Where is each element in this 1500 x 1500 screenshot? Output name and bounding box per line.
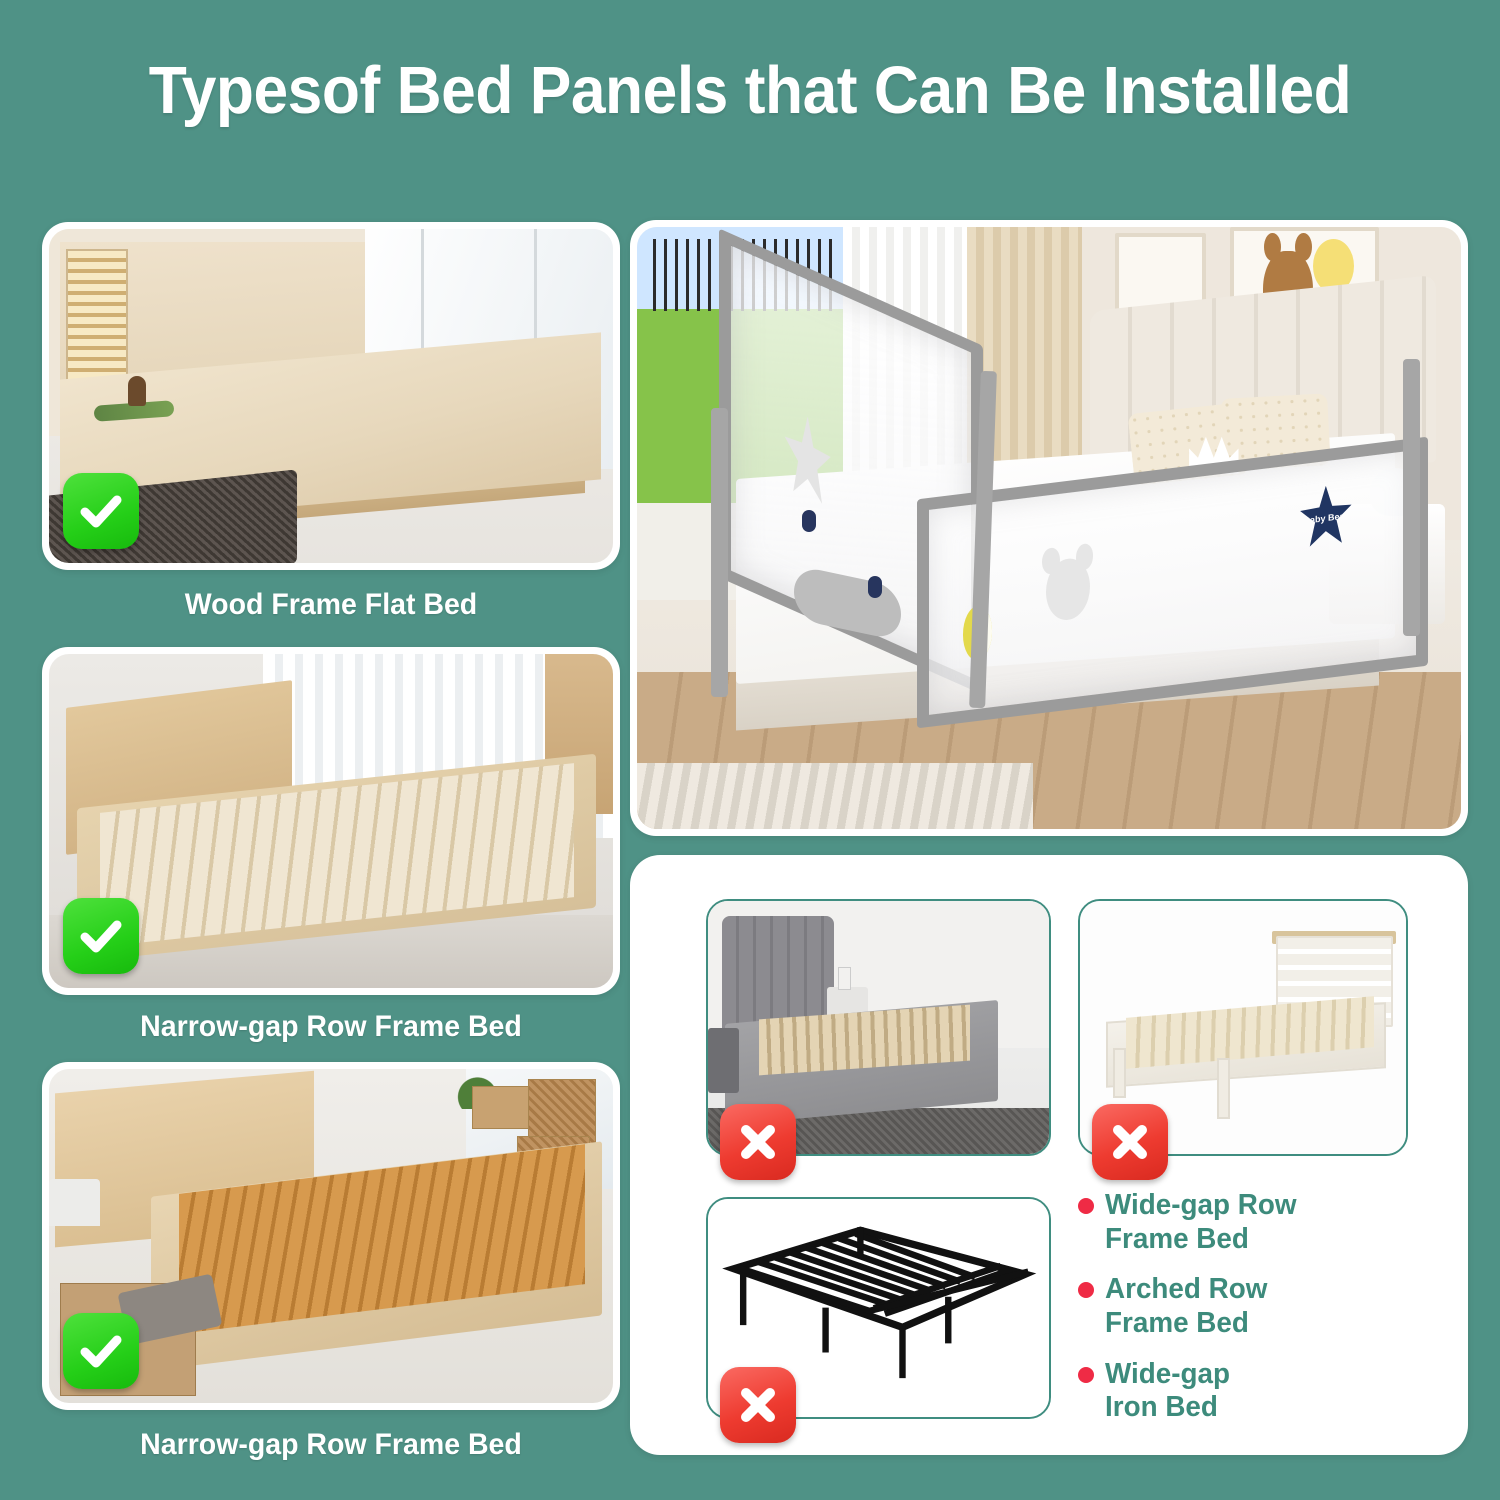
incompatible-list: Wide-gap Row Frame Bed Arched Row Frame … <box>1078 1189 1438 1442</box>
rail-post <box>1403 359 1419 636</box>
check-icon <box>63 473 139 549</box>
incompatible-card-2 <box>1078 899 1408 1156</box>
rail-clip <box>802 510 816 532</box>
list-item-label: Wide-gap Row Frame Bed <box>1105 1189 1297 1256</box>
baby-bear-logo: Baby Bear <box>1299 482 1353 550</box>
list-item-label: Arched Row Frame Bed <box>1105 1273 1267 1340</box>
list-item-label: Wide-gap Iron Bed <box>1105 1358 1230 1425</box>
hero-product-card: Baby Bear <box>630 220 1468 836</box>
list-item-line-2: Frame Bed <box>1105 1223 1297 1257</box>
photo-narrow-gap-row-frame-bed-1 <box>49 654 613 988</box>
compatible-bed-card-1 <box>42 222 620 570</box>
list-item-line-1: Wide-gap Row <box>1105 1189 1297 1223</box>
striped-rug <box>637 763 1033 829</box>
compatible-bed-card-2 <box>42 647 620 995</box>
cardboard-box <box>472 1086 534 1129</box>
caption-compatible-3: Narrow-gap Row Frame Bed <box>56 1428 605 1462</box>
bullet-dot-icon <box>1078 1198 1094 1214</box>
buddha-statue-decor <box>128 376 146 406</box>
list-item-line-2: Iron Bed <box>1105 1391 1230 1425</box>
incompatible-panel: Wide-gap Row Frame Bed Arched Row Frame … <box>630 855 1468 1455</box>
star-applique <box>784 406 832 512</box>
bed-leg <box>1113 1048 1126 1099</box>
list-item-line-2: Frame Bed <box>1105 1307 1267 1341</box>
table-lamp <box>49 1179 100 1226</box>
nightstand <box>708 1028 739 1094</box>
check-icon <box>63 898 139 974</box>
photo-bed-rail-installed: Baby Bear <box>637 227 1461 829</box>
cross-icon <box>1092 1104 1168 1180</box>
bed-leg <box>1217 1058 1230 1119</box>
rail-post <box>711 408 727 697</box>
list-item: Wide-gap Row Frame Bed <box>1078 1189 1438 1256</box>
caption-compatible-2: Narrow-gap Row Frame Bed <box>56 1010 605 1044</box>
photo-narrow-gap-row-frame-bed-2 <box>49 1069 613 1403</box>
incompatible-card-3 <box>706 1197 1051 1419</box>
bear-face-applique <box>1046 555 1090 622</box>
compatible-bed-card-3 <box>42 1062 620 1410</box>
baby-bear-logo-text: Baby Bear <box>1304 511 1349 526</box>
list-item-line-1: Wide-gap <box>1105 1358 1230 1392</box>
cross-icon <box>720 1367 796 1443</box>
cross-icon <box>720 1104 796 1180</box>
caption-compatible-1: Wood Frame Flat Bed <box>56 588 605 622</box>
list-item: Wide-gap Iron Bed <box>1078 1358 1438 1425</box>
incompatible-card-1 <box>706 899 1051 1156</box>
list-item-line-1: Arched Row <box>1105 1273 1267 1307</box>
photo-wood-frame-flat-bed <box>49 229 613 563</box>
rail-clip <box>868 576 882 598</box>
check-icon <box>63 1313 139 1389</box>
page-title: Typesof Bed Panels that Can Be Installed <box>53 52 1448 129</box>
table-lamp <box>838 967 852 990</box>
list-item: Arched Row Frame Bed <box>1078 1273 1438 1340</box>
bullet-dot-icon <box>1078 1282 1094 1298</box>
bullet-dot-icon <box>1078 1367 1094 1383</box>
